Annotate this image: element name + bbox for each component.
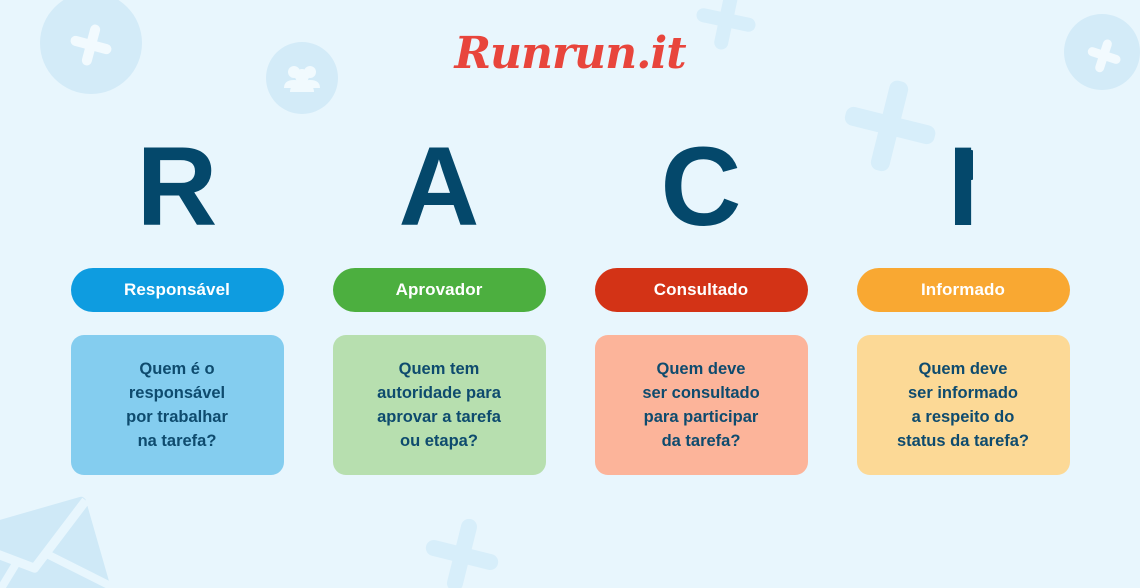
raci-letter-c: C — [661, 128, 742, 246]
brand-logo: Runrun.it — [0, 28, 1140, 79]
role-pill-responsavel[interactable]: Responsável — [71, 268, 284, 312]
raci-letter-i: I — [947, 128, 978, 246]
role-pill-informado[interactable]: Informado — [857, 268, 1070, 312]
raci-letter-r: R — [137, 128, 218, 246]
description-card-informado: Quem deve ser informado a respeito do st… — [857, 335, 1070, 475]
description-card-aprovador: Quem tem autoridade para aprovar a taref… — [333, 335, 546, 475]
raci-letter-a: A — [399, 128, 480, 246]
description-card-consultado: Quem deve ser consultado para participar… — [595, 335, 808, 475]
role-pill-consultado[interactable]: Consultado — [595, 268, 808, 312]
raci-column-r: R Responsável Quem é o responsável por t… — [57, 128, 297, 475]
raci-columns: R Responsável Quem é o responsável por t… — [0, 128, 1140, 475]
raci-column-c: C Consultado Quem deve ser consultado pa… — [581, 128, 821, 475]
raci-column-i: I Informado Quem deve ser informado a re… — [843, 128, 1083, 475]
raci-infographic: Runrun.it R Responsável Quem é o respons… — [0, 0, 1140, 588]
raci-column-a: A Aprovador Quem tem autoridade para apr… — [319, 128, 559, 475]
role-pill-aprovador[interactable]: Aprovador — [333, 268, 546, 312]
description-card-responsavel: Quem é o responsável por trabalhar na ta… — [71, 335, 284, 475]
